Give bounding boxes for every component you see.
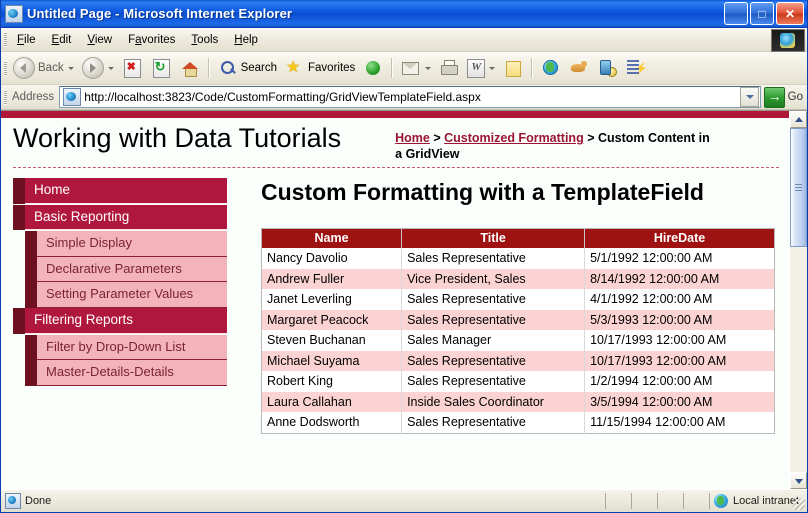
- cell-title: Sales Manager: [402, 330, 585, 351]
- cell-title: Sales Representative: [402, 351, 585, 372]
- search-button[interactable]: Search: [214, 56, 281, 80]
- breadcrumb-link-home[interactable]: Home: [395, 131, 430, 145]
- status-pad-3: [657, 493, 683, 509]
- ie-page-icon: [5, 5, 23, 23]
- page-top-accent-inner: [1, 111, 789, 118]
- mail-icon: [401, 58, 421, 78]
- sidebar-item-setting-parameter-values[interactable]: Setting Parameter Values: [13, 282, 227, 308]
- favorites-star-icon: [285, 58, 305, 78]
- sidebar-item-label: Declarative Parameters: [37, 257, 227, 283]
- sidebar-accent: [13, 205, 25, 231]
- scrollbar-track[interactable]: [790, 128, 807, 472]
- cell-hiredate: 1/2/1994 12:00:00 AM: [585, 371, 775, 392]
- title-bar: Untitled Page - Microsoft Internet Explo…: [1, 0, 807, 28]
- table-row: Robert King Sales Representative 1/2/199…: [262, 371, 775, 392]
- table-row: Andrew Fuller Vice President, Sales 8/14…: [262, 269, 775, 290]
- table-row: Nancy Davolio Sales Representative 5/1/1…: [262, 248, 775, 269]
- home-button[interactable]: [176, 56, 204, 80]
- minimize-button[interactable]: _: [724, 2, 748, 25]
- breadcrumb-link-section[interactable]: Customized Formatting: [444, 131, 584, 145]
- address-grip-handle[interactable]: [4, 90, 7, 105]
- cell-hiredate: 5/3/1993 12:00:00 AM: [585, 310, 775, 331]
- dog-button[interactable]: [565, 56, 593, 80]
- sidebar-accent: [25, 257, 37, 283]
- toolbar-separator: [208, 58, 210, 78]
- messenger-button[interactable]: [593, 56, 621, 80]
- page-status-icon: [5, 493, 21, 509]
- breadcrumb-separator-1: >: [430, 131, 444, 145]
- page-vertical-scrollbar[interactable]: [789, 111, 807, 489]
- cell-name: Anne Dodsworth: [262, 412, 402, 433]
- scrollbar-thumb[interactable]: [790, 128, 807, 247]
- cell-hiredate: 8/14/1992 12:00:00 AM: [585, 269, 775, 290]
- menu-help[interactable]: Help: [226, 32, 266, 48]
- scroll-up-button[interactable]: [790, 111, 807, 128]
- breadcrumb: Home > Customized Formatting > Custom Co…: [395, 131, 715, 162]
- main-toolbar: Back Search Favorites: [1, 52, 807, 85]
- sidebar-accent: [25, 282, 37, 308]
- home-icon: [180, 58, 200, 78]
- code-icon: [625, 58, 645, 78]
- globe-button[interactable]: [537, 56, 565, 80]
- sidebar-item-filtering-reports[interactable]: Filtering Reports: [13, 308, 227, 334]
- forward-button[interactable]: [78, 55, 118, 81]
- menu-grip-handle[interactable]: [4, 32, 7, 47]
- stop-icon: [124, 59, 141, 78]
- security-zone-text: Local intranet: [733, 495, 799, 507]
- table-row: Janet Leverling Sales Representative 4/1…: [262, 289, 775, 310]
- forward-dropdown-caret[interactable]: [108, 67, 114, 70]
- go-label: Go: [788, 91, 803, 103]
- cell-name: Laura Callahan: [262, 392, 402, 413]
- address-bar: Address http://localhost:3823/Code/Custo…: [1, 85, 807, 110]
- sidebar-item-label: Setting Parameter Values: [37, 282, 227, 308]
- media-button[interactable]: [359, 56, 387, 80]
- cell-hiredate: 4/1/1992 12:00:00 AM: [585, 289, 775, 310]
- cell-name: Robert King: [262, 371, 402, 392]
- browser-window: Untitled Page - Microsoft Internet Explo…: [0, 0, 808, 513]
- mail-dropdown-caret[interactable]: [425, 67, 431, 70]
- cell-title: Sales Representative: [402, 248, 585, 269]
- cell-hiredate: 3/5/1994 12:00:00 AM: [585, 392, 775, 413]
- edit-dropdown-caret[interactable]: [489, 67, 495, 70]
- menu-tools[interactable]: Tools: [183, 32, 226, 48]
- status-message-cell: Done: [1, 493, 605, 509]
- sidebar-item-declarative-parameters[interactable]: Declarative Parameters: [13, 257, 227, 283]
- status-bar: Done Local intranet: [1, 489, 807, 512]
- cell-title: Vice President, Sales: [402, 269, 585, 290]
- back-button[interactable]: Back: [9, 55, 78, 81]
- cell-name: Margaret Peacock: [262, 310, 402, 331]
- web-page: Working with Data Tutorials Home > Custo…: [1, 111, 789, 489]
- print-button[interactable]: [435, 56, 463, 80]
- refresh-button[interactable]: [147, 57, 176, 80]
- table-header-row: Name Title HireDate: [262, 229, 775, 249]
- stop-button[interactable]: [118, 57, 147, 80]
- cell-title: Sales Representative: [402, 289, 585, 310]
- cell-name: Michael Suyama: [262, 351, 402, 372]
- cell-hiredate: 10/17/1993 12:00:00 AM: [585, 351, 775, 372]
- menu-edit[interactable]: Edit: [44, 32, 80, 48]
- resize-grip[interactable]: [793, 498, 805, 510]
- sidebar-item-label: Filter by Drop-Down List: [37, 335, 227, 361]
- cell-title: Inside Sales Coordinator: [402, 392, 585, 413]
- favorites-button[interactable]: Favorites: [281, 56, 359, 80]
- maximize-button[interactable]: □: [750, 2, 774, 25]
- cell-name: Steven Buchanan: [262, 330, 402, 351]
- column-header-hiredate[interactable]: HireDate: [585, 229, 775, 249]
- media-icon: [363, 58, 383, 78]
- menu-favorites[interactable]: Favorites: [120, 32, 183, 48]
- go-arrow-icon: [764, 87, 785, 108]
- status-pad-4: [683, 493, 709, 509]
- status-pad-1: [605, 493, 631, 509]
- column-header-name[interactable]: Name: [262, 229, 402, 249]
- cell-title: Sales Representative: [402, 310, 585, 331]
- page-icon: [63, 88, 81, 106]
- cell-title: Sales Representative: [402, 371, 585, 392]
- cell-name: Janet Leverling: [262, 289, 402, 310]
- refresh-icon: [153, 59, 170, 78]
- table-row: Laura Callahan Inside Sales Coordinator …: [262, 392, 775, 413]
- edit-word-icon: [467, 59, 485, 78]
- site-title: Working with Data Tutorials: [13, 124, 341, 154]
- messenger-icon: [597, 58, 617, 78]
- main-content: Custom Formatting with a TemplateField N…: [227, 178, 789, 434]
- sidebar-item-filter-by-drop-down-list[interactable]: Filter by Drop-Down List: [13, 335, 227, 361]
- back-icon: [13, 57, 35, 79]
- sidebar-accent: [25, 360, 37, 386]
- sidebar-accent: [25, 335, 37, 361]
- sidebar-accent: [25, 231, 37, 257]
- globe-icon: [541, 58, 561, 78]
- menu-file[interactable]: File: [9, 32, 44, 48]
- address-dropdown-button[interactable]: [740, 87, 759, 107]
- toolbar-separator-2: [391, 58, 393, 78]
- favorites-label: Favorites: [308, 62, 355, 74]
- sidebar-item-label: Master-Details-Details: [37, 360, 227, 386]
- address-url-text: http://localhost:3823/Code/CustomFormatt…: [84, 90, 739, 104]
- intranet-zone-icon: [714, 494, 728, 508]
- table-row: Anne Dodsworth Sales Representative 11/1…: [262, 412, 775, 433]
- sidebar-item-simple-display[interactable]: Simple Display: [13, 231, 227, 257]
- notes-button[interactable]: [499, 56, 527, 80]
- table-row: Steven Buchanan Sales Manager 10/17/1993…: [262, 330, 775, 351]
- sidebar-item-basic-reporting[interactable]: Basic Reporting: [13, 205, 227, 231]
- search-label: Search: [241, 62, 277, 74]
- sidebar-accent: [13, 308, 25, 334]
- toolbar-grip-handle[interactable]: [4, 61, 7, 76]
- cell-name: Andrew Fuller: [262, 269, 402, 290]
- forward-icon: [82, 57, 104, 79]
- go-button[interactable]: Go: [761, 87, 807, 108]
- back-label: Back: [38, 62, 64, 74]
- address-input[interactable]: http://localhost:3823/Code/CustomFormatt…: [59, 86, 760, 108]
- menu-bar: File Edit View Favorites Tools Help: [1, 28, 807, 52]
- dog-icon: [569, 58, 589, 78]
- window-title: Untitled Page - Microsoft Internet Explo…: [27, 6, 292, 21]
- sidebar-item-label: Basic Reporting: [25, 205, 227, 231]
- scroll-down-button[interactable]: [790, 472, 807, 489]
- cell-hiredate: 10/17/1993 12:00:00 AM: [585, 330, 775, 351]
- menu-view[interactable]: View: [79, 32, 120, 48]
- cell-hiredate: 5/1/1992 12:00:00 AM: [585, 248, 775, 269]
- cell-name: Nancy Davolio: [262, 248, 402, 269]
- employees-gridview: Name Title HireDate Nancy Davolio Sales …: [261, 228, 775, 434]
- status-text: Done: [25, 495, 51, 507]
- mail-button[interactable]: [397, 56, 435, 80]
- sidebar-nav: Home Basic Reporting Simple Display Decl…: [13, 178, 227, 386]
- code-button[interactable]: [621, 56, 649, 80]
- column-header-title[interactable]: Title: [402, 229, 585, 249]
- address-label: Address: [9, 91, 59, 103]
- page-top-accent-bar: [1, 111, 789, 118]
- window-controls: _ □ ✕: [724, 2, 804, 25]
- sidebar-item-master-details-details[interactable]: Master-Details-Details: [13, 360, 227, 386]
- sidebar-item-label: Filtering Reports: [25, 308, 227, 334]
- sidebar-item-home[interactable]: Home: [13, 178, 227, 204]
- table-row: Michael Suyama Sales Representative 10/1…: [262, 351, 775, 372]
- cell-title: Sales Representative: [402, 412, 585, 433]
- breadcrumb-separator-2: >: [584, 131, 598, 145]
- ie-logo-animation: [771, 29, 805, 52]
- toolbar-separator-3: [531, 58, 533, 78]
- sidebar-item-label: Simple Display: [37, 231, 227, 257]
- close-button[interactable]: ✕: [776, 2, 804, 25]
- page-viewport: Working with Data Tutorials Home > Custo…: [1, 110, 807, 489]
- status-pad-2: [631, 493, 657, 509]
- page-header: Working with Data Tutorials Home > Custo…: [1, 118, 789, 162]
- sidebar-item-label: Home: [25, 178, 227, 204]
- sidebar-accent: [13, 178, 25, 204]
- table-row: Margaret Peacock Sales Representative 5/…: [262, 310, 775, 331]
- back-dropdown-caret[interactable]: [68, 67, 74, 70]
- page-body: Home Basic Reporting Simple Display Decl…: [1, 168, 789, 434]
- search-icon: [218, 58, 238, 78]
- print-icon: [439, 58, 459, 78]
- notes-icon: [503, 58, 523, 78]
- edit-in-word-button[interactable]: [463, 57, 499, 80]
- page-title: Custom Formatting with a TemplateField: [261, 178, 775, 206]
- cell-hiredate: 11/15/1994 12:00:00 AM: [585, 412, 775, 433]
